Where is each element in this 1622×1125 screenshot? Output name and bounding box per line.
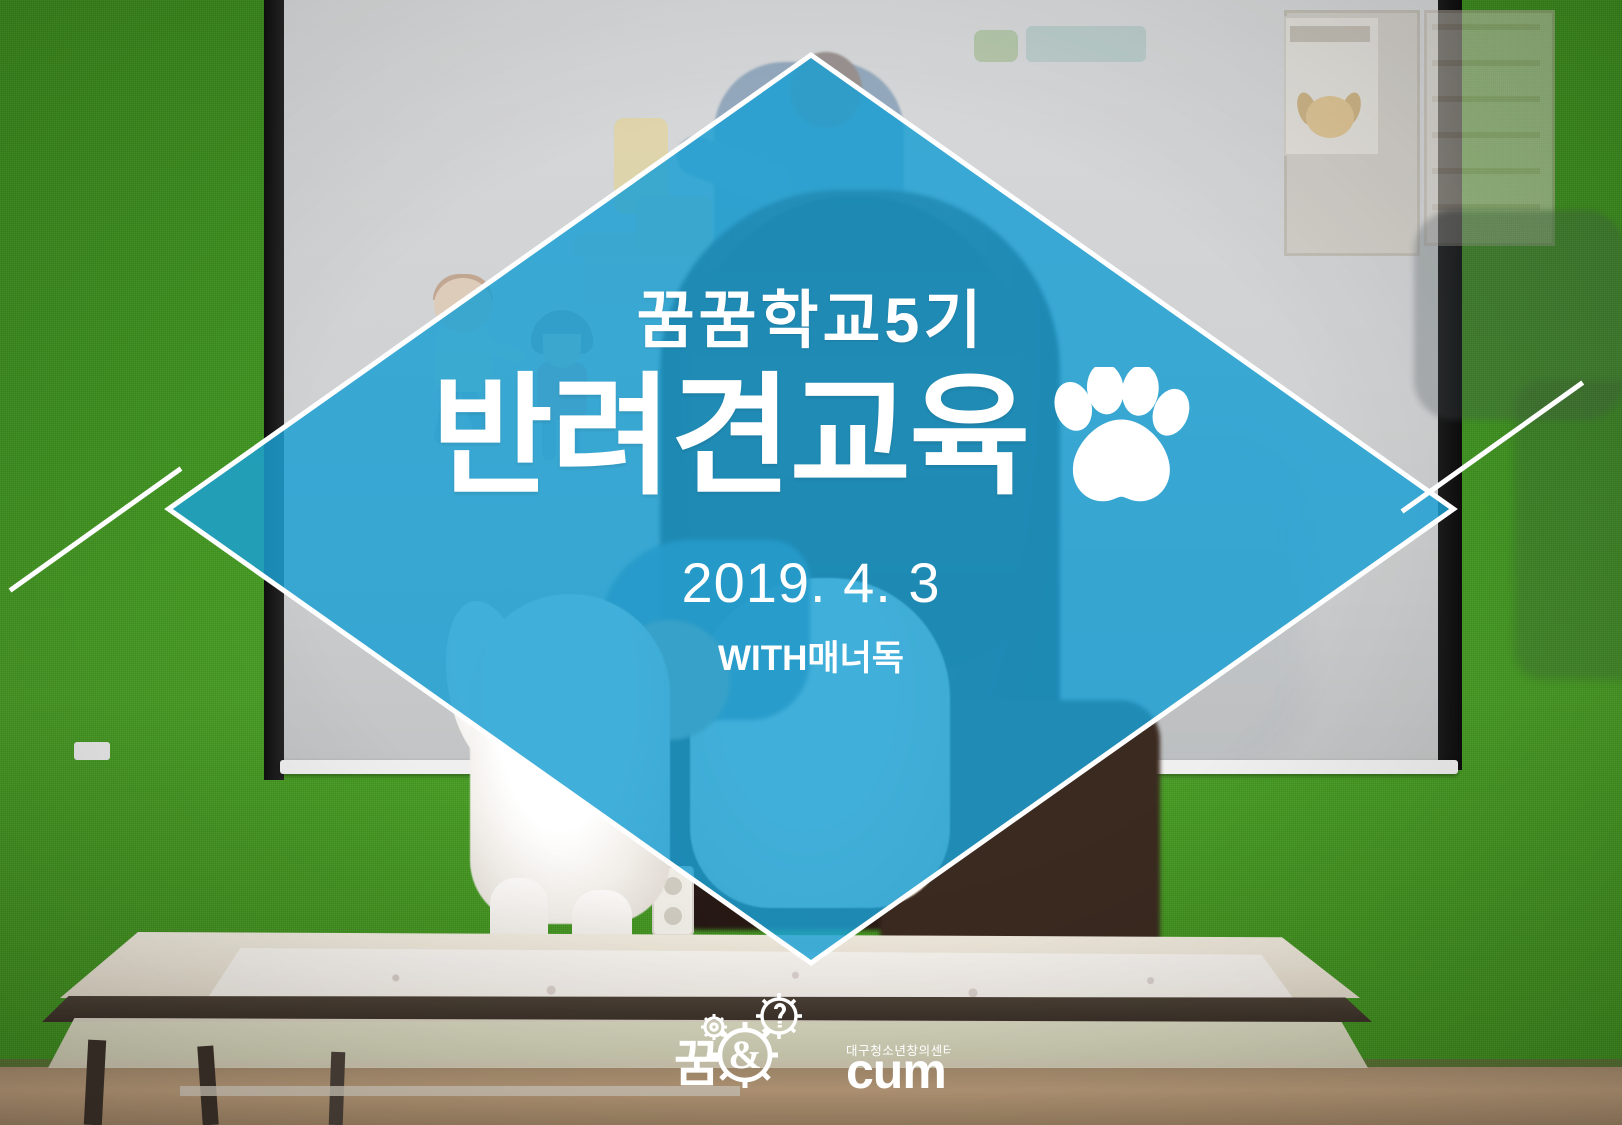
logo-ampersand: & (728, 1032, 761, 1077)
background-photo (0, 0, 1622, 1125)
poster-canvas: 꿈꿈학교5기 반려견교육 2019. 4. 3 WITH매너독 (0, 0, 1622, 1125)
organization-logo: & 꿈 cum 대구청소년창의센터 (671, 989, 951, 1097)
photo-vignette (0, 0, 1622, 1125)
logo-graphic: & 꿈 cum 대구청소년창의센터 (671, 989, 951, 1097)
logo-tagline: 대구청소년창의센터 (846, 1044, 951, 1058)
logo-wordmark-korean: 꿈 (674, 1036, 720, 1092)
